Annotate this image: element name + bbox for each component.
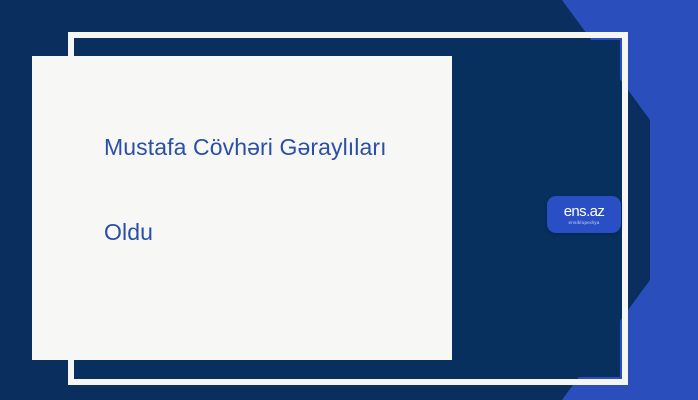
page-subtitle: Oldu (104, 217, 424, 248)
page-title: Mustafa Cövhəri Gəraylıları (104, 132, 424, 163)
slide-canvas: Mustafa Cövhəri Gəraylıları Oldu ens.az … (0, 0, 698, 400)
logo-wordmark: ens.az (564, 204, 605, 219)
logo-tagline: ensiklopediya (568, 221, 599, 226)
ens-az-logo-badge[interactable]: ens.az ensiklopediya (547, 196, 621, 233)
content-card: Mustafa Cövhəri Gəraylıları Oldu (32, 56, 452, 360)
card-text-block: Mustafa Cövhəri Gəraylıları Oldu (104, 132, 424, 247)
